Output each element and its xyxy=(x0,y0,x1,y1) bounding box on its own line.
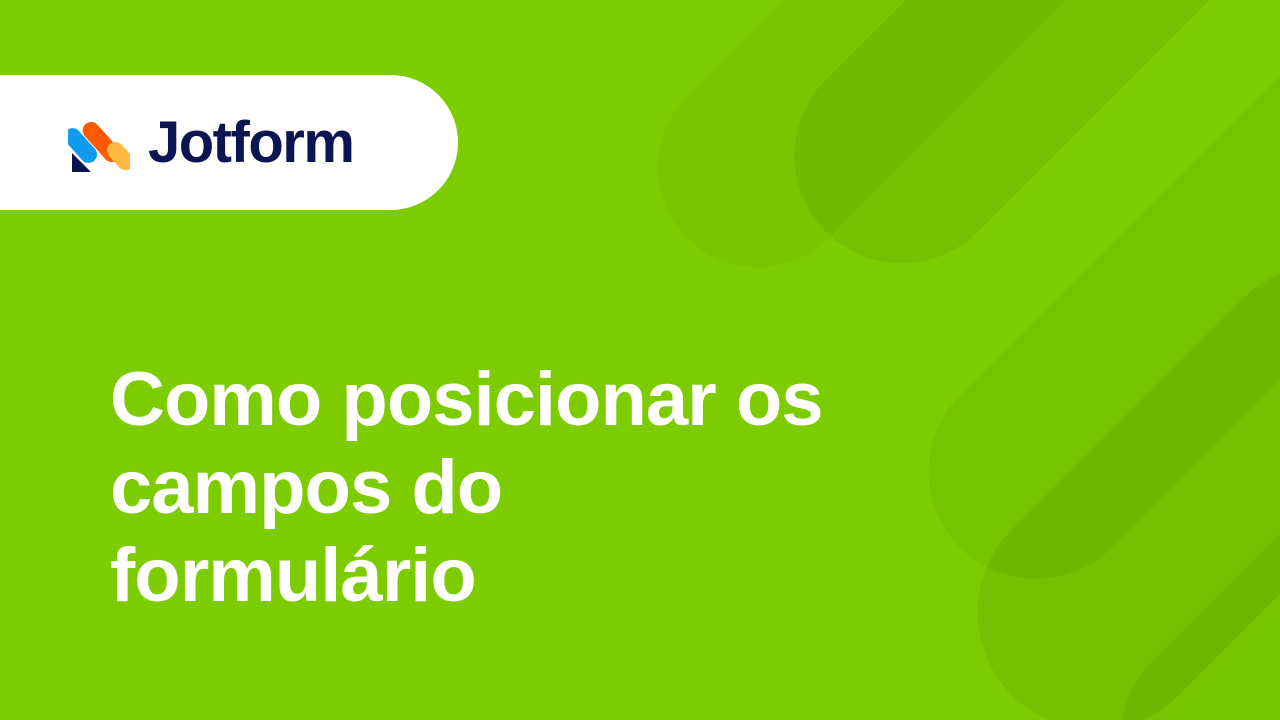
page-title-line-2: campos do xyxy=(110,444,870,532)
background-pill-lower-right xyxy=(1080,365,1280,720)
jotform-logo-mark-icon xyxy=(68,112,130,174)
logo-card: Jotform xyxy=(0,75,458,210)
background-pill-upper-middle xyxy=(616,0,1153,309)
jotform-logo-lockup: Jotform xyxy=(68,112,353,174)
video-title-card: Jotform Como posicionar os campos do for… xyxy=(0,0,1280,720)
page-title-line-1: Como posicionar os xyxy=(110,356,870,444)
jotform-wordmark: Jotform xyxy=(148,114,353,172)
background-pill-center-right xyxy=(929,216,1280,720)
page-title: Como posicionar os campos do formulário xyxy=(110,356,870,620)
background-pill-right-tall xyxy=(884,0,1280,623)
background-pill-top-right xyxy=(750,0,1280,308)
page-title-line-3: formulário xyxy=(110,532,870,620)
